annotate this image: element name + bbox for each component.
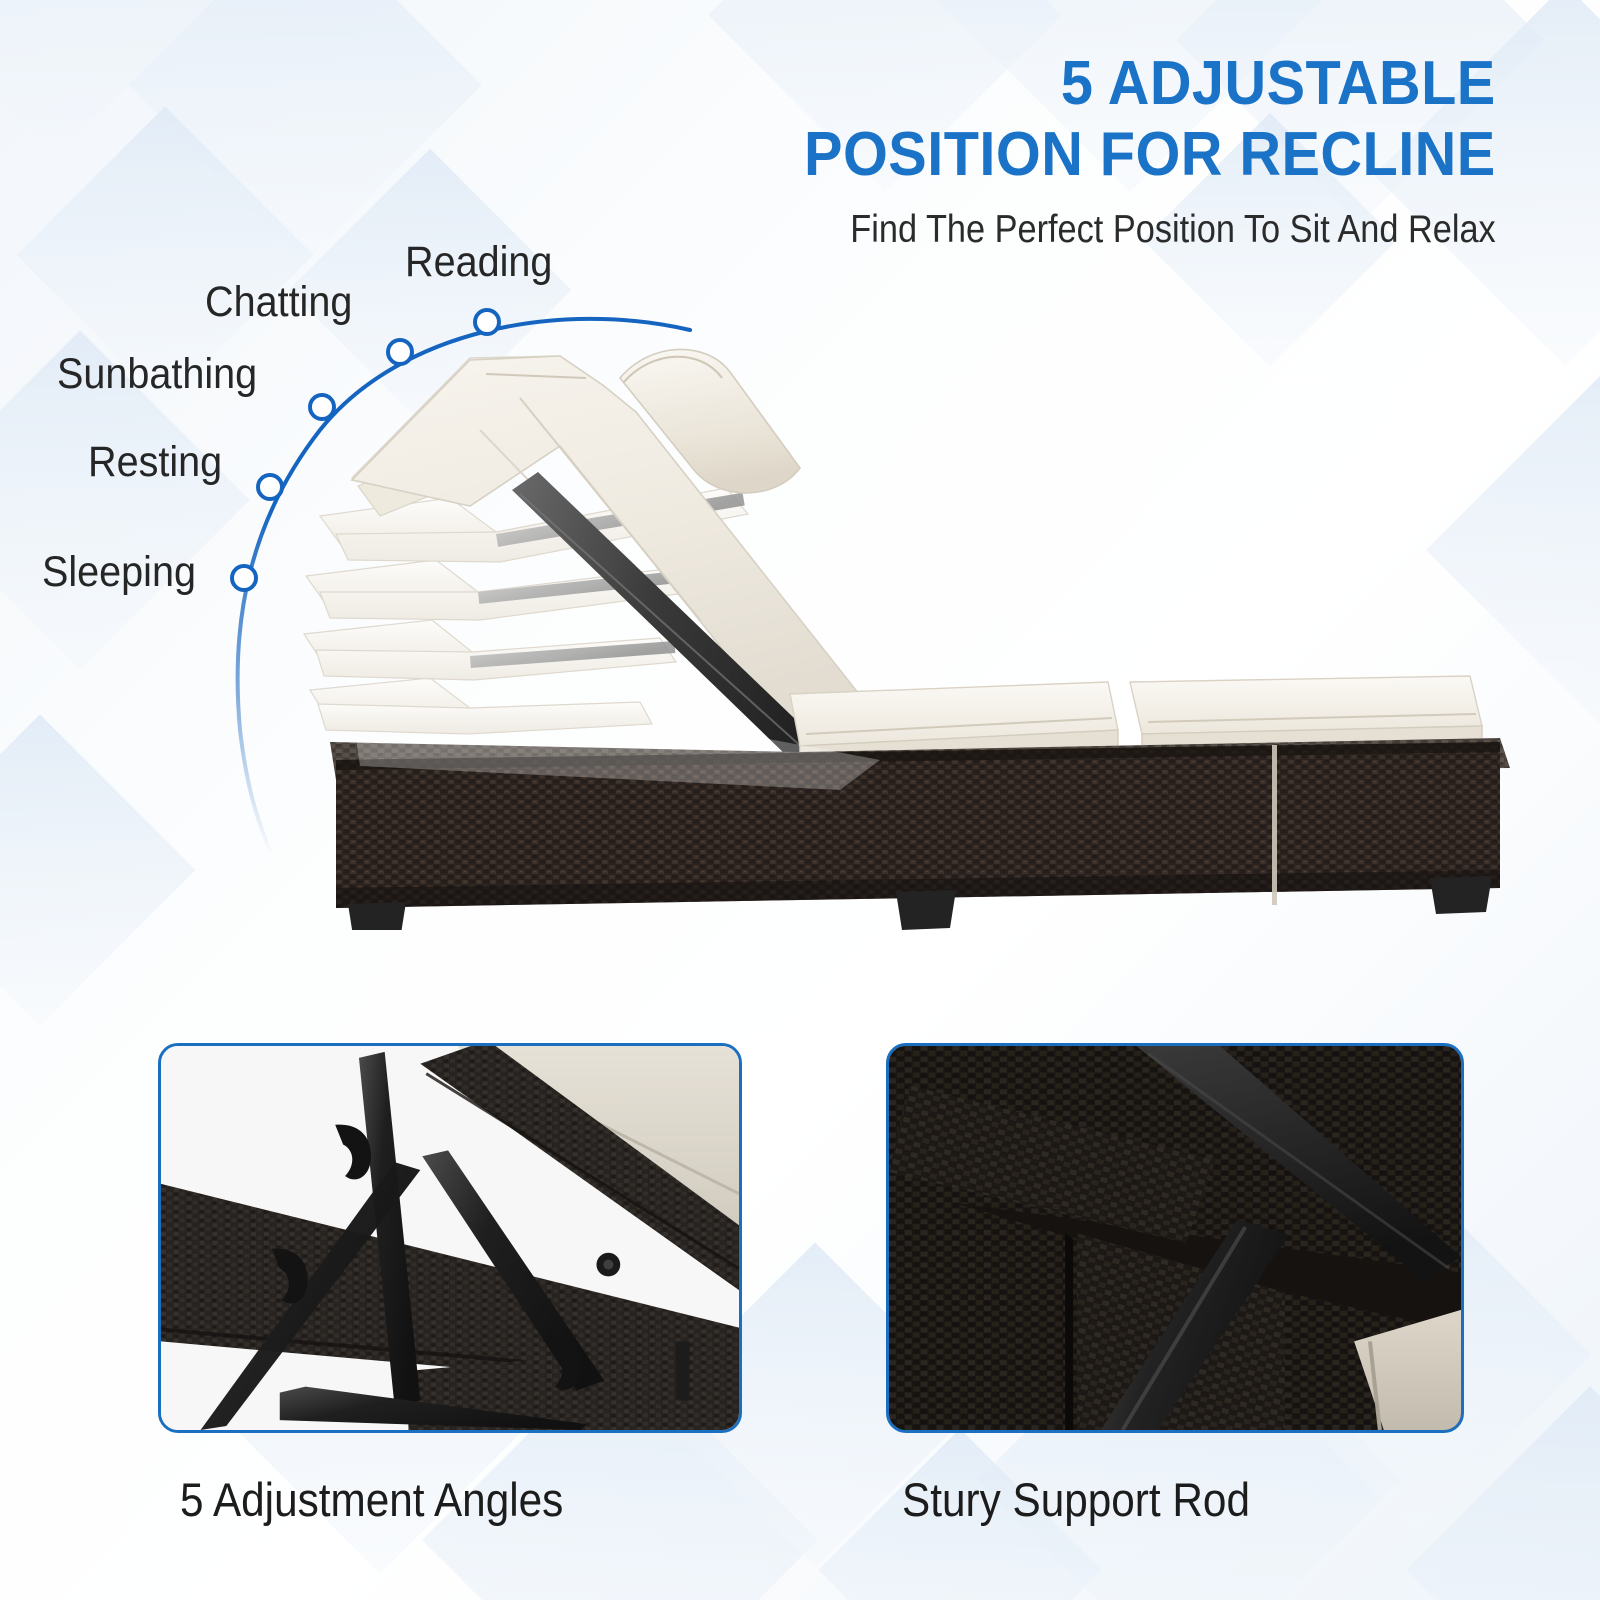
arc-node-group (232, 310, 499, 590)
arc-node-resting (258, 475, 282, 499)
caption-support-rod: Stury Support Rod (902, 1472, 1250, 1527)
position-label-sleeping: Sleeping (42, 548, 196, 597)
position-label-resting: Resting (88, 438, 222, 487)
position-label-chatting: Chatting (205, 278, 352, 327)
arc-node-chatting (388, 340, 412, 364)
detail-panel-support-rod (886, 1043, 1464, 1433)
subtitle: Find The Perfect Position To Sit And Rel… (842, 208, 1496, 252)
arc-node-sleeping (232, 566, 256, 590)
caption-adjustment-angles: 5 Adjustment Angles (180, 1472, 563, 1527)
arc-path (238, 319, 690, 865)
arc-node-sunbathing (310, 395, 334, 419)
support-rod-photo (889, 1046, 1461, 1430)
headline-line-2: POSITION FOR RECLINE (804, 123, 1496, 186)
adjustment-mechanism-photo (161, 1046, 739, 1430)
header-block: 5 ADJUSTABLE POSITION FOR RECLINE Find T… (752, 52, 1496, 252)
arc-node-reading (475, 310, 499, 334)
detail-panel-adjustment-angles (158, 1043, 742, 1433)
position-label-reading: Reading (405, 238, 552, 287)
headline-line-1: 5 ADJUSTABLE (804, 52, 1496, 115)
position-label-sunbathing: Sunbathing (57, 350, 257, 399)
